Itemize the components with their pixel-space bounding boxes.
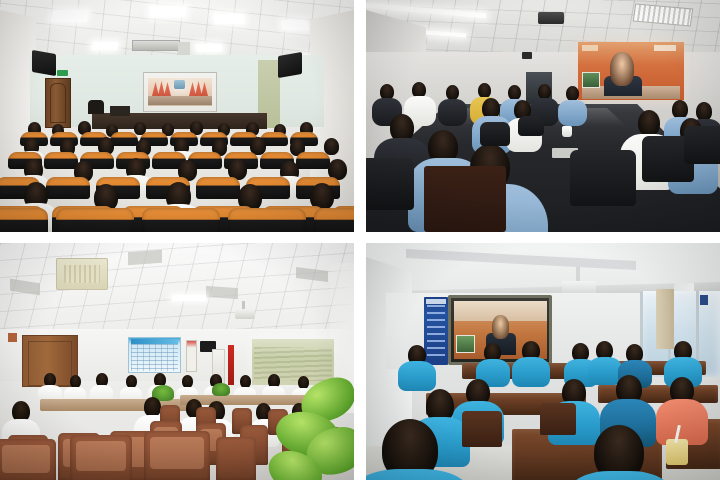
chair-cushion xyxy=(76,441,126,471)
conference-room-scene xyxy=(366,0,720,232)
auditorium-seat xyxy=(228,208,306,232)
attendee-head xyxy=(638,110,660,136)
collage-panel-bottom-right xyxy=(366,243,720,480)
broadcast-caption-right xyxy=(654,45,676,51)
auditorium-seat xyxy=(314,208,354,232)
information-board-content xyxy=(131,344,178,371)
wooden-chair xyxy=(216,437,256,480)
collage-panel-top-left xyxy=(0,0,354,232)
board-header xyxy=(131,339,178,344)
screen-audience-band xyxy=(148,96,212,105)
ceiling-vent xyxy=(128,250,162,265)
ceiling-light xyxy=(150,6,187,17)
wooden-chair xyxy=(424,166,506,232)
exit-sign xyxy=(57,70,68,76)
office-chair xyxy=(366,158,414,210)
office-chair xyxy=(480,122,510,146)
wall-plaque xyxy=(8,333,17,342)
cassette-air-conditioner xyxy=(56,258,108,290)
ceiling-light xyxy=(281,20,309,30)
auditorium-seat xyxy=(142,208,220,232)
ceiling-projector xyxy=(538,12,564,24)
chair-back xyxy=(462,411,502,447)
podium xyxy=(110,106,130,116)
training-room-scene xyxy=(366,243,720,480)
ceiling-light xyxy=(50,10,89,22)
seat-row xyxy=(0,208,354,232)
photo-collage xyxy=(0,0,720,480)
ceiling-air-vent xyxy=(132,40,180,51)
broadcast-caption-left xyxy=(582,45,598,51)
ceiling-vent xyxy=(206,286,238,299)
collage-panel-bottom-left xyxy=(0,243,354,480)
office-chair xyxy=(570,150,636,206)
office-chair xyxy=(518,116,544,136)
ceiling-light xyxy=(196,44,223,52)
meeting-room-scene xyxy=(0,243,354,480)
stage-chair xyxy=(88,100,104,114)
chair-back xyxy=(540,403,576,435)
ceiling-projector xyxy=(235,309,255,319)
wall-speaker-left xyxy=(32,50,56,76)
banner-header xyxy=(426,299,446,304)
auditorium-seat xyxy=(56,208,134,232)
wall-switch xyxy=(700,295,708,305)
office-chair xyxy=(684,126,720,164)
chair-cushion xyxy=(150,437,204,469)
ceiling-light xyxy=(91,42,118,50)
foreground-plant xyxy=(270,370,354,480)
auditorium-seat xyxy=(0,208,48,232)
red-poster xyxy=(186,340,197,372)
chair-cushion xyxy=(2,445,50,473)
ceiling-light xyxy=(214,14,245,24)
ceiling-grid xyxy=(0,243,354,339)
wall-camera xyxy=(522,52,532,59)
audience-head xyxy=(324,138,339,155)
broadcast-speaker-face xyxy=(492,315,509,339)
ceiling-projector xyxy=(178,42,190,56)
wall-speaker-right xyxy=(278,52,302,78)
emblem-graphic xyxy=(174,80,185,89)
ceiling-light xyxy=(172,295,206,301)
collage-panel-top-right xyxy=(366,0,720,232)
auditorium-scene xyxy=(0,0,354,232)
